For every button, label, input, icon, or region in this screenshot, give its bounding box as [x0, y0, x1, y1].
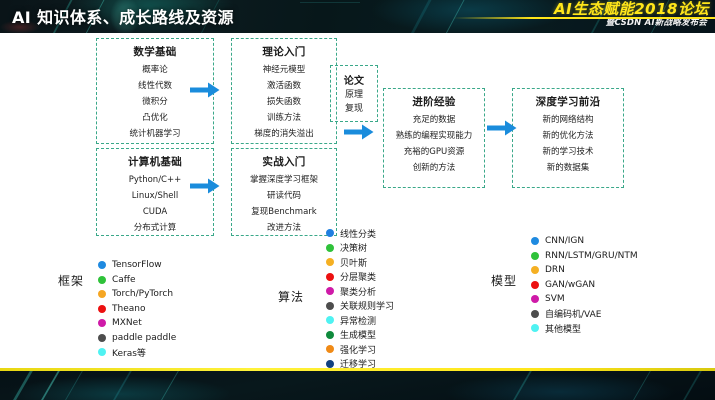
- bullet-dot-icon: [531, 310, 539, 318]
- bullet-dot-icon: [98, 261, 106, 269]
- legend-label-algorithms: 算法: [278, 288, 304, 305]
- flow-box-deep-learning-frontier: 深度学习前沿 新的网络结构 新的优化方法 新的学习技术 新的数据集: [512, 88, 624, 188]
- flow-box-item: 充裕的GPU资源: [384, 144, 484, 160]
- bullet-dot-icon: [326, 302, 334, 310]
- flow-box-item: 凸优化: [97, 110, 213, 126]
- list-item: 贝叶斯: [326, 255, 394, 270]
- list-item-label: 异常检测: [340, 314, 376, 327]
- slide-footer-banner: [0, 368, 715, 400]
- bullet-dot-icon: [326, 273, 334, 281]
- list-item: RNN/LSTM/GRU/NTM: [531, 249, 638, 264]
- list-item: CNN/IGN: [531, 234, 638, 249]
- list-item-label: MXNet: [112, 318, 142, 328]
- list-item-label: TensorFlow: [112, 260, 162, 270]
- list-item-label: 聚类分析: [340, 285, 376, 298]
- legend-label-frameworks: 框架: [58, 272, 84, 289]
- bullet-dot-icon: [98, 334, 106, 342]
- event-logo: AI生态赋能2018论坛 暨CSDN AI新战略发布会: [459, 1, 709, 33]
- list-item-label: Torch/PyTorch: [112, 289, 173, 299]
- list-item-label: Caffe: [112, 275, 136, 285]
- list-item: 生成模型: [326, 328, 394, 343]
- flow-box-item: 梯度的消失溢出: [232, 126, 336, 142]
- list-item: 异常检测: [326, 313, 394, 328]
- list-item: TensorFlow: [98, 258, 176, 273]
- arrow-right-icon: [487, 120, 517, 136]
- flow-box-item: 统计机器学习: [97, 126, 213, 142]
- flow-box-item: CUDA: [97, 204, 213, 220]
- flow-box-item: 创新的方法: [384, 160, 484, 176]
- bullet-dot-icon: [326, 331, 334, 339]
- bullet-dot-icon: [531, 281, 539, 289]
- flow-box-advanced-experience: 进阶经验 充足的数据 熟练的编程实现能力 充裕的GPU资源 创新的方法: [383, 88, 485, 188]
- event-logo-rule: [453, 17, 715, 19]
- bullet-dot-icon: [531, 237, 539, 245]
- bullet-dot-icon: [326, 287, 334, 295]
- flow-box-item: 概率论: [97, 62, 213, 78]
- list-item: Caffe: [98, 273, 176, 288]
- list-item: 线性分类: [326, 226, 394, 241]
- arrow-right-icon: [190, 82, 220, 98]
- list-item-label: 强化学习: [340, 343, 376, 356]
- bullet-dot-icon: [98, 305, 106, 313]
- bullet-dot-icon: [326, 244, 334, 252]
- flow-box-item: 新的优化方法: [513, 128, 623, 144]
- list-item-label: GAN/wGAN: [545, 280, 595, 290]
- flow-box-item: 神经元模型: [232, 62, 336, 78]
- flow-box-practice-intro: 实战入门 掌握深度学习框架 研读代码 复现Benchmark 改进方法: [231, 148, 337, 236]
- bullet-dot-icon: [326, 360, 334, 368]
- list-item-label: 关联规则学习: [340, 299, 394, 312]
- bullet-dot-icon: [326, 229, 334, 237]
- flow-box-title: 计算机基础: [97, 154, 213, 169]
- list-item: Torch/PyTorch: [98, 287, 176, 302]
- event-logo-title: AI生态赋能2018论坛: [459, 1, 709, 17]
- flow-box-item: 损失函数: [232, 94, 336, 110]
- bullet-dot-icon: [531, 266, 539, 274]
- bullet-dot-icon: [98, 319, 106, 327]
- list-item: MXNet: [98, 316, 176, 331]
- list-item-label: Keras等: [112, 346, 146, 359]
- list-item: GAN/wGAN: [531, 278, 638, 293]
- flow-box-item: 新的数据集: [513, 160, 623, 176]
- list-item: 其他模型: [531, 321, 638, 336]
- list-item-label: 贝叶斯: [340, 256, 367, 269]
- flow-box-title: 进阶经验: [384, 94, 484, 109]
- flow-box-item: 复现Benchmark: [232, 204, 336, 220]
- flow-box-item: 训练方法: [232, 110, 336, 126]
- arrow-right-icon: [344, 124, 374, 140]
- flow-box-item: 复现: [331, 102, 377, 116]
- list-item: 聚类分析: [326, 284, 394, 299]
- list-item-label: CNN/IGN: [545, 236, 584, 246]
- arrow-right-icon: [190, 178, 220, 194]
- flow-box-item: 充足的数据: [384, 112, 484, 128]
- list-item-label: 其他模型: [545, 322, 581, 335]
- flow-box-title: 论文: [331, 72, 377, 87]
- legend-list-algorithms: 线性分类 决策树 贝叶斯 分层聚类 聚类分析 关联规则学习 异常检测 生成模型: [326, 226, 394, 386]
- bullet-dot-icon: [531, 252, 539, 260]
- list-item-label: 线性分类: [340, 227, 376, 240]
- flow-box-item: 新的学习技术: [513, 144, 623, 160]
- legend-list-models: CNN/IGN RNN/LSTM/GRU/NTM DRN GAN/wGAN SV…: [531, 234, 638, 336]
- flow-box-paper: 论文 原理 复现: [330, 65, 378, 122]
- list-item: 分层聚类: [326, 270, 394, 285]
- flow-box-item: 掌握深度学习框架: [232, 172, 336, 188]
- bullet-dot-icon: [326, 345, 334, 353]
- list-item: Theano: [98, 302, 176, 317]
- bullet-dot-icon: [326, 258, 334, 266]
- bullet-dot-icon: [98, 348, 106, 356]
- list-item-label: DRN: [545, 265, 565, 275]
- bullet-dot-icon: [98, 290, 106, 298]
- list-item-label: 自编码机/VAE: [545, 307, 601, 320]
- list-item: 强化学习: [326, 342, 394, 357]
- list-item: 决策树: [326, 241, 394, 256]
- list-item-label: 生成模型: [340, 328, 376, 341]
- list-item-label: 分层聚类: [340, 270, 376, 283]
- list-item: Keras等: [98, 345, 176, 360]
- bullet-dot-icon: [326, 316, 334, 324]
- flow-box-item: 原理: [331, 88, 377, 102]
- flow-box-title: 数学基础: [97, 44, 213, 59]
- flow-box-title: 实战入门: [232, 154, 336, 169]
- list-item: 关联规则学习: [326, 299, 394, 314]
- flow-box-theory-intro: 理论入门 神经元模型 激活函数 损失函数 训练方法 梯度的消失溢出: [231, 38, 337, 144]
- slide-canvas: AI 知识体系、成长路线及资源 AI生态赋能2018论坛 暨CSDN AI新战略…: [0, 0, 715, 400]
- legend-label-models: 模型: [491, 272, 517, 289]
- flow-box-title: 深度学习前沿: [513, 94, 623, 109]
- bullet-dot-icon: [531, 295, 539, 303]
- list-item-label: 决策树: [340, 241, 367, 254]
- footer-accent-rule: [0, 368, 715, 371]
- list-item-label: RNN/LSTM/GRU/NTM: [545, 251, 638, 261]
- flow-box-item: 激活函数: [232, 78, 336, 94]
- list-item: 自编码机/VAE: [531, 307, 638, 322]
- list-item-label: Theano: [112, 304, 145, 314]
- flow-box-item: 改进方法: [232, 220, 336, 236]
- flow-box-item: 熟练的编程实现能力: [384, 128, 484, 144]
- page-title: AI 知识体系、成长路线及资源: [12, 4, 234, 28]
- flow-box-item: 研读代码: [232, 188, 336, 204]
- bullet-dot-icon: [98, 276, 106, 284]
- flow-box-item: 分布式计算: [97, 220, 213, 236]
- list-item: DRN: [531, 263, 638, 278]
- bullet-dot-icon: [531, 324, 539, 332]
- list-item-label: SVM: [545, 294, 565, 304]
- legend-list-frameworks: TensorFlow Caffe Torch/PyTorch Theano MX…: [98, 258, 176, 360]
- list-item-label: paddle paddle: [112, 333, 176, 343]
- list-item: paddle paddle: [98, 331, 176, 346]
- list-item: SVM: [531, 292, 638, 307]
- flow-box-item: 新的网络结构: [513, 112, 623, 128]
- flow-box-title: 理论入门: [232, 44, 336, 59]
